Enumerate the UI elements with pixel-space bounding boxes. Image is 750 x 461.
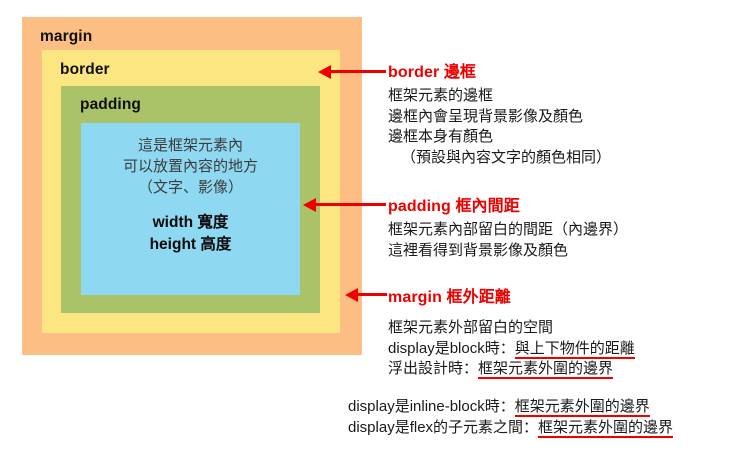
margin-box: margin border padding 這是框架元素內 可以放置內容的地方 … [22,17,362,355]
content-width-label: width 寬度 [150,212,232,234]
content-height-label: height 高度 [150,234,232,256]
padding-left-arrow-icon [303,198,386,212]
border-box: border padding 這是框架元素內 可以放置內容的地方 （文字、影像）… [42,50,340,333]
rule-prefix: display是inline-block時： [348,398,515,415]
annotation-line: 框架元素外部留白的空間 [388,318,635,339]
annotation-line: 邊框本身有顏色 [388,127,611,148]
rule-underlined-term: 框架元素外圍的邊界 [538,419,673,438]
rule-underlined-term: 與上下物件的距離 [515,340,635,359]
annotation-body-border: 框架元素的邊框 邊框內會呈現背景影像及顏色 邊框本身有顏色 （預設與內容文字的顏… [388,86,611,168]
margin-box-label: margin [40,28,92,46]
annotation-tail-rules: display是inline-block時：框架元素外圍的邊界 display是… [348,396,750,438]
content-text-line: 可以放置內容的地方 [123,156,258,177]
content-text-line: （文字、影像） [138,177,243,198]
box-model-diagram: margin border padding 這是框架元素內 可以放置內容的地方 … [22,17,362,355]
annotation-rule-line: display是block時：與上下物件的距離 [388,339,635,360]
arrow-shaft [329,70,386,73]
annotation-rule-line: display是flex的子元素之間：框架元素外圍的邊界 [348,417,750,438]
annotation-heading-margin: margin 框外距離 [388,283,635,307]
annotation-line: 框架元素的邊框 [388,86,611,107]
content-dimensions: width 寬度 height 高度 [150,212,232,256]
padding-box-label: padding [80,96,141,114]
border-box-label: border [60,61,110,79]
arrow-shaft [356,293,387,296]
annotation-column: border 邊框 框架元素的邊框 邊框內會呈現背景影像及顏色 邊框本身有顏色 … [388,0,750,461]
annotation-heading-padding: padding 框內間距 [388,192,628,216]
rule-prefix: 浮出設計時： [388,360,478,377]
arrow-shaft [314,203,386,206]
annotation-heading-border: border 邊框 [388,58,611,82]
annotation-line: （預設與內容文字的顏色相同） [388,148,611,169]
annotation-body-margin: 框架元素外部留白的空間 display是block時：與上下物件的距離 浮出設計… [388,318,635,380]
content-box: 這是框架元素內 可以放置內容的地方 （文字、影像） width 寬度 heigh… [81,123,300,295]
content-text-line: 這是框架元素內 [138,135,243,156]
annotation-group-padding: padding 框內間距 框架元素內部留白的間距（內邊界） 這裡看得到背景影像及… [388,192,628,261]
annotation-rule-line: display是inline-block時：框架元素外圍的邊界 [348,396,750,417]
annotation-group-margin: margin 框外距離 框架元素外部留白的空間 display是block時：與… [388,283,635,380]
annotation-group-border: border 邊框 框架元素的邊框 邊框內會呈現背景影像及顏色 邊框本身有顏色 … [388,58,611,168]
annotation-rule-line: 浮出設計時：框架元素外圍的邊界 [388,359,635,380]
annotation-line: 邊框內會呈現背景影像及顏色 [388,107,611,128]
rule-underlined-term: 框架元素外圍的邊界 [478,360,613,379]
rule-prefix: display是flex的子元素之間： [348,419,538,436]
padding-box: padding 這是框架元素內 可以放置內容的地方 （文字、影像） width … [61,86,320,313]
rule-underlined-term: 框架元素外圍的邊界 [515,398,650,417]
border-left-arrow-icon [318,65,386,79]
rule-prefix: display是block時： [388,340,515,357]
margin-left-arrow-icon [345,288,387,302]
annotation-line: 框架元素內部留白的間距（內邊界） [388,220,628,241]
annotation-body-padding: 框架元素內部留白的間距（內邊界） 這裡看得到背景影像及顏色 [388,220,628,261]
annotation-line: 這裡看得到背景影像及顏色 [388,241,628,262]
